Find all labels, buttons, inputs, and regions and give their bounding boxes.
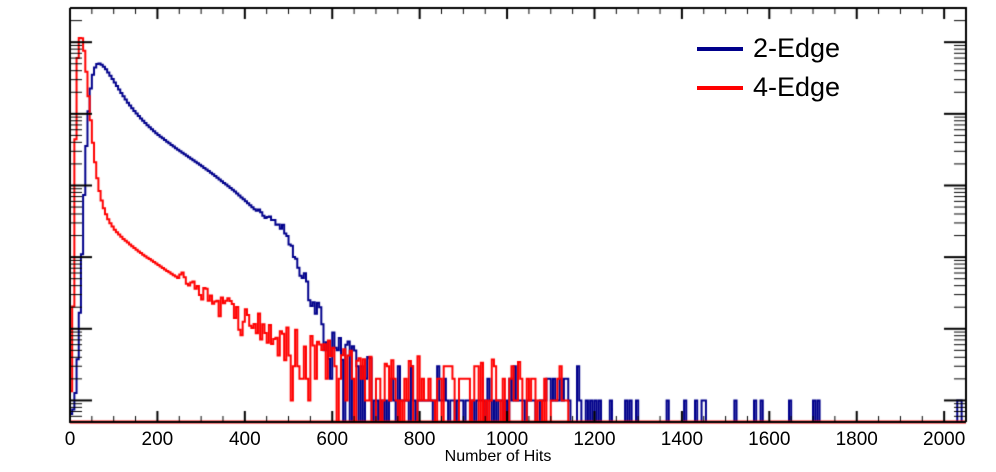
legend-label-2-edge: 2-Edge [753, 30, 840, 66]
legend-entry-2-edge: 2-Edge [697, 30, 927, 69]
x-axis-title: Number of Hits [0, 448, 996, 466]
legend-swatch-2-edge [697, 47, 743, 51]
legend-entry-4-edge: 4-Edge [697, 69, 927, 108]
chart-root: 110102103104105 020040060080010001200140… [0, 0, 996, 472]
chart-legend: 2-Edge 4-Edge [697, 30, 927, 108]
legend-swatch-4-edge [697, 86, 743, 90]
legend-label-4-edge: 4-Edge [753, 69, 840, 105]
